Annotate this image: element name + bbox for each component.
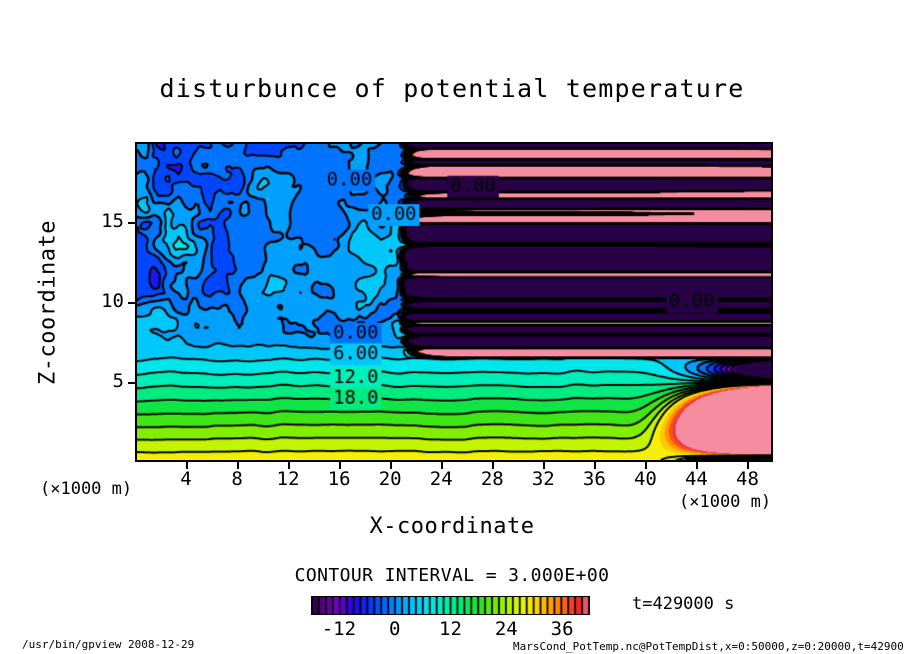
x-axis-tick-label: 48 bbox=[727, 468, 767, 490]
y-axis-title: Z-coordinate bbox=[36, 193, 61, 413]
time-label: t=429000 s bbox=[632, 594, 734, 614]
x-axis-tick-label: 8 bbox=[217, 468, 257, 490]
y-axis-tick bbox=[128, 382, 135, 384]
page-title: disturbunce of potential temperature bbox=[0, 74, 904, 103]
x-axis-title: X-coordinate bbox=[0, 514, 904, 539]
colorbar-tick-label: -12 bbox=[317, 618, 361, 640]
x-axis-tick-label: 36 bbox=[574, 468, 614, 490]
contour-field bbox=[137, 144, 771, 460]
x-axis-tick-label: 40 bbox=[625, 468, 665, 490]
y-axis-tick-label: 5 bbox=[88, 370, 124, 392]
contour-interval-caption: CONTOUR INTERVAL = 3.000E+00 bbox=[0, 565, 904, 586]
contour-plot-frame bbox=[135, 142, 773, 462]
x-axis-tick-label: 44 bbox=[676, 468, 716, 490]
y-axis-tick-label: 10 bbox=[88, 290, 124, 312]
footer-command: /usr/bin/gpview 2008-12-29 bbox=[22, 638, 194, 651]
colorbar-gradient bbox=[312, 597, 589, 614]
x-axis-tick-label: 32 bbox=[523, 468, 563, 490]
x-axis-tick-label: 12 bbox=[268, 468, 308, 490]
y-axis-tick-label: 15 bbox=[88, 210, 124, 232]
y-axis-tick bbox=[128, 222, 135, 224]
colorbar-tick-label: 12 bbox=[429, 618, 473, 640]
colorbar-tick-label: 0 bbox=[373, 618, 417, 640]
colorbar bbox=[311, 596, 590, 615]
y-axis-unit: (×1000 m) bbox=[40, 479, 132, 499]
footer-source: MarsCond_PotTemp.nc@PotTempDist,x=0:5000… bbox=[513, 640, 904, 653]
x-axis-tick-label: 20 bbox=[370, 468, 410, 490]
colorbar-tick-label: 36 bbox=[540, 618, 584, 640]
x-axis-tick-label: 16 bbox=[319, 468, 359, 490]
y-axis-tick bbox=[128, 302, 135, 304]
x-axis-unit: (×1000 m) bbox=[679, 492, 771, 512]
colorbar-tick-label: 24 bbox=[484, 618, 528, 640]
x-axis-tick-label: 24 bbox=[421, 468, 461, 490]
x-axis-tick-label: 28 bbox=[472, 468, 512, 490]
x-axis-tick-label: 4 bbox=[166, 468, 206, 490]
